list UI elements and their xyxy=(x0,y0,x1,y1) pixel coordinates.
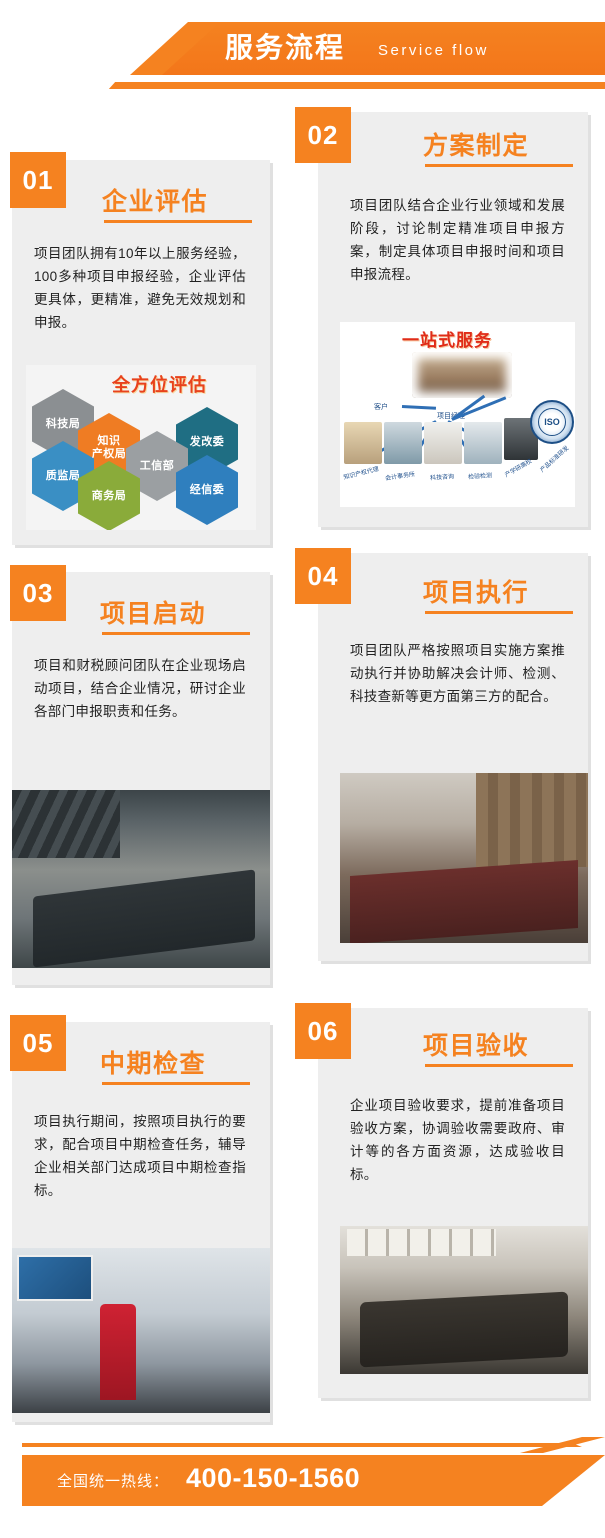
step-card-05: 中期检查 项目执行期间，按照项目执行的要求，配合项目中期检查任务，辅导企业相关部… xyxy=(12,1022,270,1422)
iso-seal-text: ISO xyxy=(538,408,566,436)
step-title-04: 项目执行 xyxy=(423,573,529,609)
step-body-01: 项目团队拥有10年以上服务经验，100多种项目申报经验，企业评估更具体，更精准，… xyxy=(34,242,246,334)
step-body-02: 项目团队结合企业行业领域和发展阶段，讨论制定精准项目申报方案，制定具体项目申报时… xyxy=(350,194,565,286)
hex-label: 质监局 xyxy=(46,470,81,483)
one-stop-node-customer: 客户 xyxy=(374,402,388,412)
step-title-01: 企业评估 xyxy=(102,182,208,218)
one-stop-hero-photo xyxy=(412,352,512,398)
infographic-page: 服务流程 Service flow 企业评估 项目团队拥有10年以上服务经验，1… xyxy=(0,0,605,1538)
hex-label: 经信委 xyxy=(190,484,225,497)
hex-label: 工信部 xyxy=(140,460,175,473)
page-title: 服务流程 xyxy=(225,28,345,68)
hotline-label: 全国统一热线： xyxy=(57,1470,169,1491)
one-stop-thumb xyxy=(384,422,422,464)
one-stop-thumb xyxy=(424,422,462,464)
hotline-phone[interactable]: 400-150-1560 xyxy=(186,1463,360,1494)
conference-room-kickoff-photo xyxy=(12,790,270,968)
page-header: 服务流程 Service flow xyxy=(0,0,605,105)
page-subtitle: Service flow xyxy=(378,39,489,63)
step-card-02: 方案制定 项目团队结合企业行业领域和发展阶段，讨论制定精准项目申报方案，制定具体… xyxy=(318,112,588,527)
step-title-02: 方案制定 xyxy=(423,126,529,162)
hex-label: 发改委 xyxy=(190,436,225,449)
header-underline-bar xyxy=(150,82,605,89)
step-body-04: 项目团队严格按照项目实施方案推动执行并协助解决会计师、检测、科技查新等更方面第三… xyxy=(350,639,565,708)
step-title-05: 中期检查 xyxy=(100,1044,206,1080)
working-meeting-laptops-photo xyxy=(340,773,588,943)
hex-label: 商务局 xyxy=(92,490,127,503)
step-title-rule-04 xyxy=(425,611,573,614)
step-badge-02: 02 xyxy=(295,107,351,163)
one-stop-label-1: 会计事务所 xyxy=(385,469,416,482)
step-title-rule-02 xyxy=(425,164,573,167)
step-card-01: 企业评估 项目团队拥有10年以上服务经验，100多种项目申报经验，企业评估更具体… xyxy=(12,160,270,545)
step-title-rule-06 xyxy=(425,1064,573,1067)
header-underline-wedge xyxy=(109,82,175,89)
step-card-03: 项目启动 项目和财税顾问团队在企业现场启动项目，结合企业情况，研讨企业各部门申报… xyxy=(12,572,270,985)
all-round-assessment-diagram: 全方位评估 科技局 知识 产权局 发改委 质监局 工信部 商务局 经信委 xyxy=(26,365,256,530)
boardroom-acceptance-photo xyxy=(340,1226,588,1374)
step-title-rule-01 xyxy=(104,220,252,223)
step-badge-03: 03 xyxy=(10,565,66,621)
step-title-06: 项目验收 xyxy=(423,1026,529,1062)
step-badge-04: 04 xyxy=(295,548,351,604)
one-stop-title: 一站式服务 xyxy=(402,326,492,351)
step-title-03: 项目启动 xyxy=(100,594,206,630)
footer-accent-line xyxy=(22,1443,582,1447)
hex-label: 科技局 xyxy=(46,418,81,431)
step-card-06: 项目验收 企业项目验收要求，提前准备项目验收方案，协调验收需要政府、审计等的各方… xyxy=(318,1008,588,1398)
hex-label: 知识 产权局 xyxy=(92,435,127,461)
step-title-rule-03 xyxy=(102,632,250,635)
one-stop-thumb xyxy=(344,422,382,464)
step-body-03: 项目和财税顾问团队在企业现场启动项目，结合企业情况，研讨企业各部门申报职责和任务… xyxy=(34,654,246,723)
one-stop-label-2: 科技咨询 xyxy=(430,471,455,482)
step-badge-06: 06 xyxy=(295,1003,351,1059)
step-body-05: 项目执行期间，按照项目执行的要求，配合项目中期检查任务，辅导企业相关部门达成项目… xyxy=(34,1110,246,1202)
showroom-site-visit-photo xyxy=(12,1248,270,1413)
step-body-06: 企业项目验收要求，提前准备项目验收方案，协调验收需要政府、审计等的各方面资源，达… xyxy=(350,1094,565,1186)
hex-diagram-title: 全方位评估 xyxy=(112,371,207,397)
step-badge-05: 05 xyxy=(10,1015,66,1071)
iso-seal-icon: ISO xyxy=(530,400,574,444)
one-stop-arrow xyxy=(402,405,436,410)
one-stop-service-diagram: 一站式服务 客户 项目经理 ISO 知识产权代理 会计事务所 科技咨询 检验检测 xyxy=(340,322,575,507)
one-stop-label-3: 检验检测 xyxy=(468,470,493,481)
one-stop-label-5: 产品标准研发 xyxy=(538,443,571,474)
one-stop-thumb xyxy=(464,422,502,464)
step-badge-01: 01 xyxy=(10,152,66,208)
step-title-rule-05 xyxy=(102,1082,250,1085)
one-stop-label-0: 知识产权代理 xyxy=(342,464,379,481)
step-card-04: 项目执行 项目团队严格按照项目实施方案推动执行并协助解决会计师、检测、科技查新等… xyxy=(318,553,588,961)
